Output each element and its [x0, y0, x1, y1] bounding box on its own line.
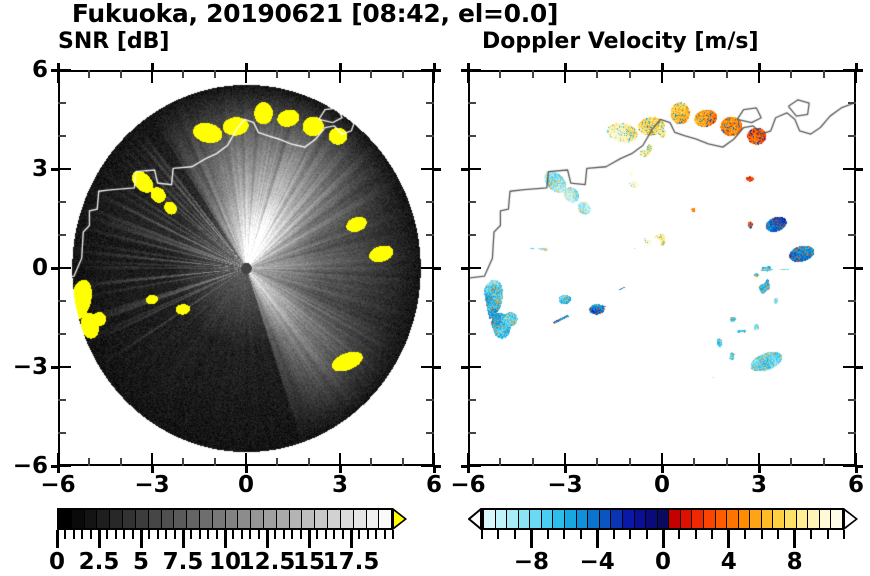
- colorbar-minor-tick: [199, 530, 201, 539]
- colorbar-segment: [600, 510, 612, 528]
- colorbar-segment: [739, 510, 751, 528]
- x-tick-snr: [402, 458, 404, 466]
- snr-ppi-image: [60, 72, 432, 464]
- x-tick-label-dop: 3: [729, 472, 789, 498]
- y-major-stub-snr: [51, 168, 58, 171]
- colorbar-minor-tick: [333, 530, 335, 539]
- y-major-stub-right-dop: [856, 267, 863, 270]
- colorbar-segment: [302, 510, 315, 528]
- x-tick-dop: [726, 458, 728, 466]
- colorbar-minor-tick: [843, 530, 845, 539]
- y-tick-dop: [468, 432, 476, 434]
- x-major-stub-top-snr: [151, 63, 154, 70]
- colorbar-minor-tick: [514, 530, 516, 539]
- colorbar-segment: [174, 510, 187, 528]
- colorbar-minor-tick: [316, 530, 318, 539]
- colorbar-minor-tick: [367, 530, 369, 539]
- y-tick-dop: [468, 333, 476, 335]
- y-major-stub-dop: [461, 267, 468, 270]
- y-major-stub-right-snr: [434, 465, 441, 468]
- colorbar-minor-tick: [115, 530, 117, 539]
- y-tick-right-snr: [426, 432, 434, 434]
- y-major-stub-snr: [51, 69, 58, 72]
- colorbar-segment: [354, 510, 367, 528]
- x-tick-top-dop: [499, 70, 501, 78]
- y-tick-snr: [58, 201, 66, 203]
- y-major-stub-right-snr: [434, 267, 441, 270]
- y-tick-right-snr: [426, 300, 434, 302]
- colorbar-minor-tick: [274, 530, 276, 539]
- y-major-stub-right-dop: [856, 69, 863, 72]
- x-tick-top-dop: [596, 70, 598, 78]
- colorbar-segment: [750, 510, 762, 528]
- y-major-stub-dop: [461, 465, 468, 468]
- colorbar-minor-tick: [106, 530, 108, 539]
- y-tick-snr: [58, 234, 66, 236]
- colorbar-segment: [646, 510, 658, 528]
- x-tick-top-dop: [564, 70, 566, 83]
- y-tick-snr: [58, 135, 66, 137]
- dop-cbar-wrap-bar: [482, 508, 844, 530]
- doppler-panel-title: Doppler Velocity [m/s]: [482, 29, 759, 55]
- y-tick-label-snr: 3: [6, 156, 48, 182]
- x-tick-top-snr: [182, 70, 184, 78]
- y-tick-right-dop: [848, 234, 856, 236]
- y-tick-right-snr: [421, 267, 434, 269]
- x-tick-snr: [245, 453, 247, 466]
- y-tick-right-snr: [426, 234, 434, 236]
- colorbar-minor-tick: [497, 530, 499, 539]
- y-tick-snr: [58, 399, 66, 401]
- colorbar-segment: [251, 510, 264, 528]
- x-tick-dop: [823, 458, 825, 466]
- colorbar-segment: [623, 510, 635, 528]
- colorbar-minor-tick: [232, 530, 234, 539]
- x-tick-snr: [276, 458, 278, 466]
- colorbar-segment: [519, 510, 531, 528]
- colorbar-segment: [110, 510, 123, 528]
- colorbar-segment: [577, 510, 589, 528]
- y-tick-right-snr: [426, 201, 434, 203]
- x-tick-label-snr: 0: [216, 472, 276, 498]
- y-tick-dop: [468, 234, 476, 236]
- colorbar-minor-tick: [73, 530, 75, 539]
- colorbar-minor-tick: [241, 530, 243, 539]
- x-tick-top-dop: [661, 70, 663, 83]
- x-tick-top-dop: [855, 70, 857, 83]
- colorbar-segment: [379, 510, 391, 528]
- colorbar-segment: [238, 510, 251, 528]
- y-tick-dop: [468, 102, 476, 104]
- colorbar-tick-label: 17.5: [306, 548, 396, 576]
- colorbar-segment: [123, 510, 136, 528]
- colorbar-minor-tick: [157, 530, 159, 539]
- y-tick-right-snr: [426, 135, 434, 137]
- x-major-stub-top-dop: [661, 63, 664, 70]
- y-tick-label-snr: −3: [6, 354, 48, 380]
- colorbar-minor-tick: [695, 530, 697, 539]
- x-tick-snr: [182, 458, 184, 466]
- colorbar-major-tick: [140, 530, 143, 548]
- colorbar-segment: [588, 510, 600, 528]
- colorbar-segment: [85, 510, 98, 528]
- colorbar-minor-tick: [148, 530, 150, 539]
- x-tick-label-snr: −3: [122, 472, 182, 498]
- colorbar-minor-tick: [190, 530, 192, 539]
- y-tick-label-snr: −6: [6, 453, 48, 479]
- colorbar-minor-tick: [291, 530, 293, 539]
- colorbar-minor-tick: [90, 530, 92, 539]
- x-tick-snr: [339, 453, 341, 466]
- x-tick-snr: [370, 458, 372, 466]
- doppler-ppi-image: [470, 72, 854, 464]
- x-tick-dop: [596, 458, 598, 466]
- colorbar-segment: [773, 510, 785, 528]
- colorbar-minor-tick: [258, 530, 260, 539]
- colorbar-major-tick: [224, 530, 227, 548]
- colorbar-segment: [658, 510, 670, 528]
- y-tick-right-snr: [426, 333, 434, 335]
- y-tick-dop: [468, 465, 481, 467]
- colorbar-tick-label: 8: [750, 548, 840, 576]
- y-tick-right-dop: [848, 300, 856, 302]
- y-tick-right-snr: [421, 168, 434, 170]
- y-major-stub-snr: [51, 465, 58, 468]
- colorbar-segment: [226, 510, 239, 528]
- colorbar-segment: [808, 510, 820, 528]
- colorbar-minor-tick: [300, 530, 302, 539]
- colorbar-minor-tick: [547, 530, 549, 539]
- x-major-stub-top-snr: [245, 63, 248, 70]
- y-major-stub-right-dop: [856, 168, 863, 171]
- y-major-stub-right-dop: [856, 465, 863, 468]
- x-tick-top-dop: [790, 70, 792, 78]
- doppler-plot-area: [468, 70, 856, 466]
- x-tick-dop: [758, 453, 760, 466]
- colorbar-minor-tick: [283, 530, 285, 539]
- colorbar-segment: [59, 510, 72, 528]
- colorbar-segment: [328, 510, 341, 528]
- colorbar-segment: [785, 510, 797, 528]
- colorbar-minor-tick: [249, 530, 251, 539]
- colorbar-minor-tick: [132, 530, 134, 539]
- x-tick-snr: [88, 458, 90, 466]
- x-tick-label-dop: −3: [535, 472, 595, 498]
- colorbar-major-tick: [727, 530, 730, 548]
- x-tick-top-dop: [693, 70, 695, 78]
- y-tick-dop: [468, 201, 476, 203]
- snr-plot-area: [58, 70, 434, 466]
- y-tick-right-dop: [848, 399, 856, 401]
- snr-colorbar[interactable]: 02.557.51012.51517.5: [57, 508, 407, 530]
- colorbar-segment: [496, 510, 508, 528]
- colorbar-segment: [290, 510, 303, 528]
- y-tick-dop: [468, 399, 476, 401]
- y-tick-right-dop: [848, 432, 856, 434]
- x-tick-label-dop: 6: [826, 472, 870, 498]
- colorbar-major-tick: [793, 530, 796, 548]
- x-tick-dop: [532, 458, 534, 466]
- x-tick-top-snr: [245, 70, 247, 83]
- x-tick-top-dop: [532, 70, 534, 78]
- y-major-stub-right-snr: [434, 366, 441, 369]
- colorbar-segment: [97, 510, 110, 528]
- x-tick-top-snr: [276, 70, 278, 78]
- y-tick-right-dop: [848, 333, 856, 335]
- colorbar-minor-tick: [216, 530, 218, 539]
- y-tick-dop: [468, 168, 481, 170]
- colorbar-segment: [507, 510, 519, 528]
- y-tick-snr: [58, 465, 71, 467]
- colorbar-minor-tick: [123, 530, 125, 539]
- x-tick-top-snr: [433, 70, 435, 83]
- x-tick-snr: [308, 458, 310, 466]
- colorbar-segment: [542, 510, 554, 528]
- x-tick-top-dop: [726, 70, 728, 78]
- colorbar-major-tick: [56, 530, 59, 548]
- colorbar-segment: [727, 510, 739, 528]
- snr-cbar-wrap-bar: [57, 508, 393, 530]
- colorbar-minor-tick: [64, 530, 66, 539]
- colorbar-segment: [341, 510, 354, 528]
- y-major-stub-right-snr: [434, 168, 441, 171]
- y-major-stub-right-snr: [434, 69, 441, 72]
- colorbar-minor-tick: [613, 530, 615, 539]
- y-tick-label-snr: 0: [6, 255, 48, 281]
- colorbar-segment: [692, 510, 704, 528]
- colorbar-minor-tick: [563, 530, 565, 539]
- x-tick-dop: [629, 458, 631, 466]
- x-tick-snr: [151, 453, 153, 466]
- y-major-stub-dop: [461, 69, 468, 72]
- y-major-stub-snr: [51, 267, 58, 270]
- colorbar-minor-tick: [646, 530, 648, 539]
- colorbar-segment: [162, 510, 175, 528]
- colorbar-minor-tick: [384, 530, 386, 539]
- colorbar-segment: [669, 510, 681, 528]
- y-tick-snr: [58, 168, 71, 170]
- x-tick-top-snr: [57, 70, 59, 83]
- colorbar-major-tick: [308, 530, 311, 548]
- x-tick-dop: [661, 453, 663, 466]
- y-tick-snr: [58, 366, 71, 368]
- colorbar-major-tick: [530, 530, 533, 548]
- colorbar-segment: [553, 510, 565, 528]
- colorbar-minor-tick: [827, 530, 829, 539]
- x-tick-top-dop: [823, 70, 825, 78]
- x-tick-top-snr: [339, 70, 341, 83]
- colorbar-minor-tick: [165, 530, 167, 539]
- colorbar-segment: [762, 510, 774, 528]
- colorbar-segment: [187, 510, 200, 528]
- colorbar-minor-tick: [744, 530, 746, 539]
- y-major-stub-dop: [461, 366, 468, 369]
- y-major-stub-right-dop: [856, 366, 863, 369]
- colorbar-minor-tick: [342, 530, 344, 539]
- colorbar-major-tick: [266, 530, 269, 548]
- x-tick-top-snr: [88, 70, 90, 78]
- y-tick-right-snr: [426, 102, 434, 104]
- x-tick-dop: [790, 458, 792, 466]
- colorbar-segment: [149, 510, 162, 528]
- figure-title: Fukuoka, 20190621 [08:42, el=0.0]: [0, 0, 630, 28]
- x-tick-snr: [120, 458, 122, 466]
- colorbar-minor-tick: [207, 530, 209, 539]
- colorbar-segment: [264, 510, 277, 528]
- x-tick-top-snr: [308, 70, 310, 78]
- colorbar-segment: [831, 510, 842, 528]
- colorbar-minor-tick: [81, 530, 83, 539]
- snr-panel-title: SNR [dB]: [58, 29, 169, 55]
- colorbar-segment: [565, 510, 577, 528]
- colorbar-minor-tick: [481, 530, 483, 539]
- x-tick-label-dop: −6: [438, 472, 498, 498]
- colorbar-minor-tick: [580, 530, 582, 539]
- y-tick-right-dop: [843, 267, 856, 269]
- x-tick-snr: [214, 458, 216, 466]
- x-tick-top-dop: [467, 70, 469, 83]
- x-tick-dop: [499, 458, 501, 466]
- colorbar-segment: [635, 510, 647, 528]
- y-tick-snr: [58, 69, 71, 71]
- colorbar-segment: [200, 510, 213, 528]
- colorbar-major-tick: [350, 530, 353, 548]
- y-tick-right-snr: [421, 366, 434, 368]
- colorbar-segment: [72, 510, 85, 528]
- colorbar-segment: [820, 510, 832, 528]
- figure-root: Fukuoka, 20190621 [08:42, el=0.0] SNR [d…: [0, 0, 870, 570]
- x-tick-top-snr: [120, 70, 122, 78]
- colorbar-segment: [704, 510, 716, 528]
- x-tick-top-dop: [629, 70, 631, 78]
- colorbar-segment: [716, 510, 728, 528]
- x-tick-top-snr: [402, 70, 404, 78]
- y-tick-right-dop: [848, 102, 856, 104]
- y-tick-right-dop: [843, 168, 856, 170]
- x-tick-label-snr: 3: [310, 472, 370, 498]
- colorbar-segment: [611, 510, 623, 528]
- x-tick-top-dop: [758, 70, 760, 83]
- x-tick-top-snr: [214, 70, 216, 78]
- y-tick-snr: [58, 432, 66, 434]
- colorbar-minor-tick: [629, 530, 631, 539]
- colorbar-segment: [681, 510, 693, 528]
- y-tick-snr: [58, 267, 71, 269]
- y-tick-dop: [468, 69, 481, 71]
- y-tick-snr: [58, 102, 66, 104]
- colorbar-segment: [797, 510, 809, 528]
- x-tick-top-snr: [370, 70, 372, 78]
- y-tick-right-dop: [848, 201, 856, 203]
- colorbar-segment: [136, 510, 149, 528]
- colorbar-segment: [484, 510, 496, 528]
- x-major-stub-top-dop: [758, 63, 761, 70]
- colorbar-segment: [367, 510, 380, 528]
- colorbar-minor-tick: [358, 530, 360, 539]
- colorbar-major-tick: [98, 530, 101, 548]
- colorbar-minor-tick: [777, 530, 779, 539]
- y-major-stub-snr: [51, 366, 58, 369]
- y-major-stub-dop: [461, 168, 468, 171]
- x-tick-dop: [693, 458, 695, 466]
- y-tick-dop: [468, 366, 481, 368]
- colorbar-segment: [277, 510, 290, 528]
- dop-cbar-wrap-under-arrow-outline: [468, 508, 482, 530]
- x-tick-top-snr: [151, 70, 153, 83]
- x-tick-dop: [564, 453, 566, 466]
- y-tick-right-dop: [848, 135, 856, 137]
- y-tick-dop: [468, 267, 481, 269]
- colorbar-minor-tick: [678, 530, 680, 539]
- colorbar-segment: [315, 510, 328, 528]
- colorbar-segment: [530, 510, 542, 528]
- colorbar-minor-tick: [392, 530, 394, 539]
- x-major-stub-top-dop: [564, 63, 567, 70]
- colorbar-major-tick: [182, 530, 185, 548]
- colorbar-minor-tick: [761, 530, 763, 539]
- colorbar-segment: [213, 510, 226, 528]
- y-tick-snr: [58, 300, 66, 302]
- colorbar-major-tick: [596, 530, 599, 548]
- colorbar-minor-tick: [711, 530, 713, 539]
- x-tick-label-dop: 0: [632, 472, 692, 498]
- y-tick-dop: [468, 300, 476, 302]
- colorbar-minor-tick: [174, 530, 176, 539]
- x-major-stub-top-snr: [339, 63, 342, 70]
- colorbar-minor-tick: [810, 530, 812, 539]
- y-tick-snr: [58, 333, 66, 335]
- colorbar-major-tick: [662, 530, 665, 548]
- y-tick-right-dop: [843, 366, 856, 368]
- y-tick-label-snr: 6: [6, 57, 48, 83]
- y-tick-right-snr: [426, 399, 434, 401]
- colorbar-minor-tick: [375, 530, 377, 539]
- doppler-colorbar[interactable]: −8−4048: [468, 508, 858, 530]
- y-tick-dop: [468, 135, 476, 137]
- colorbar-minor-tick: [325, 530, 327, 539]
